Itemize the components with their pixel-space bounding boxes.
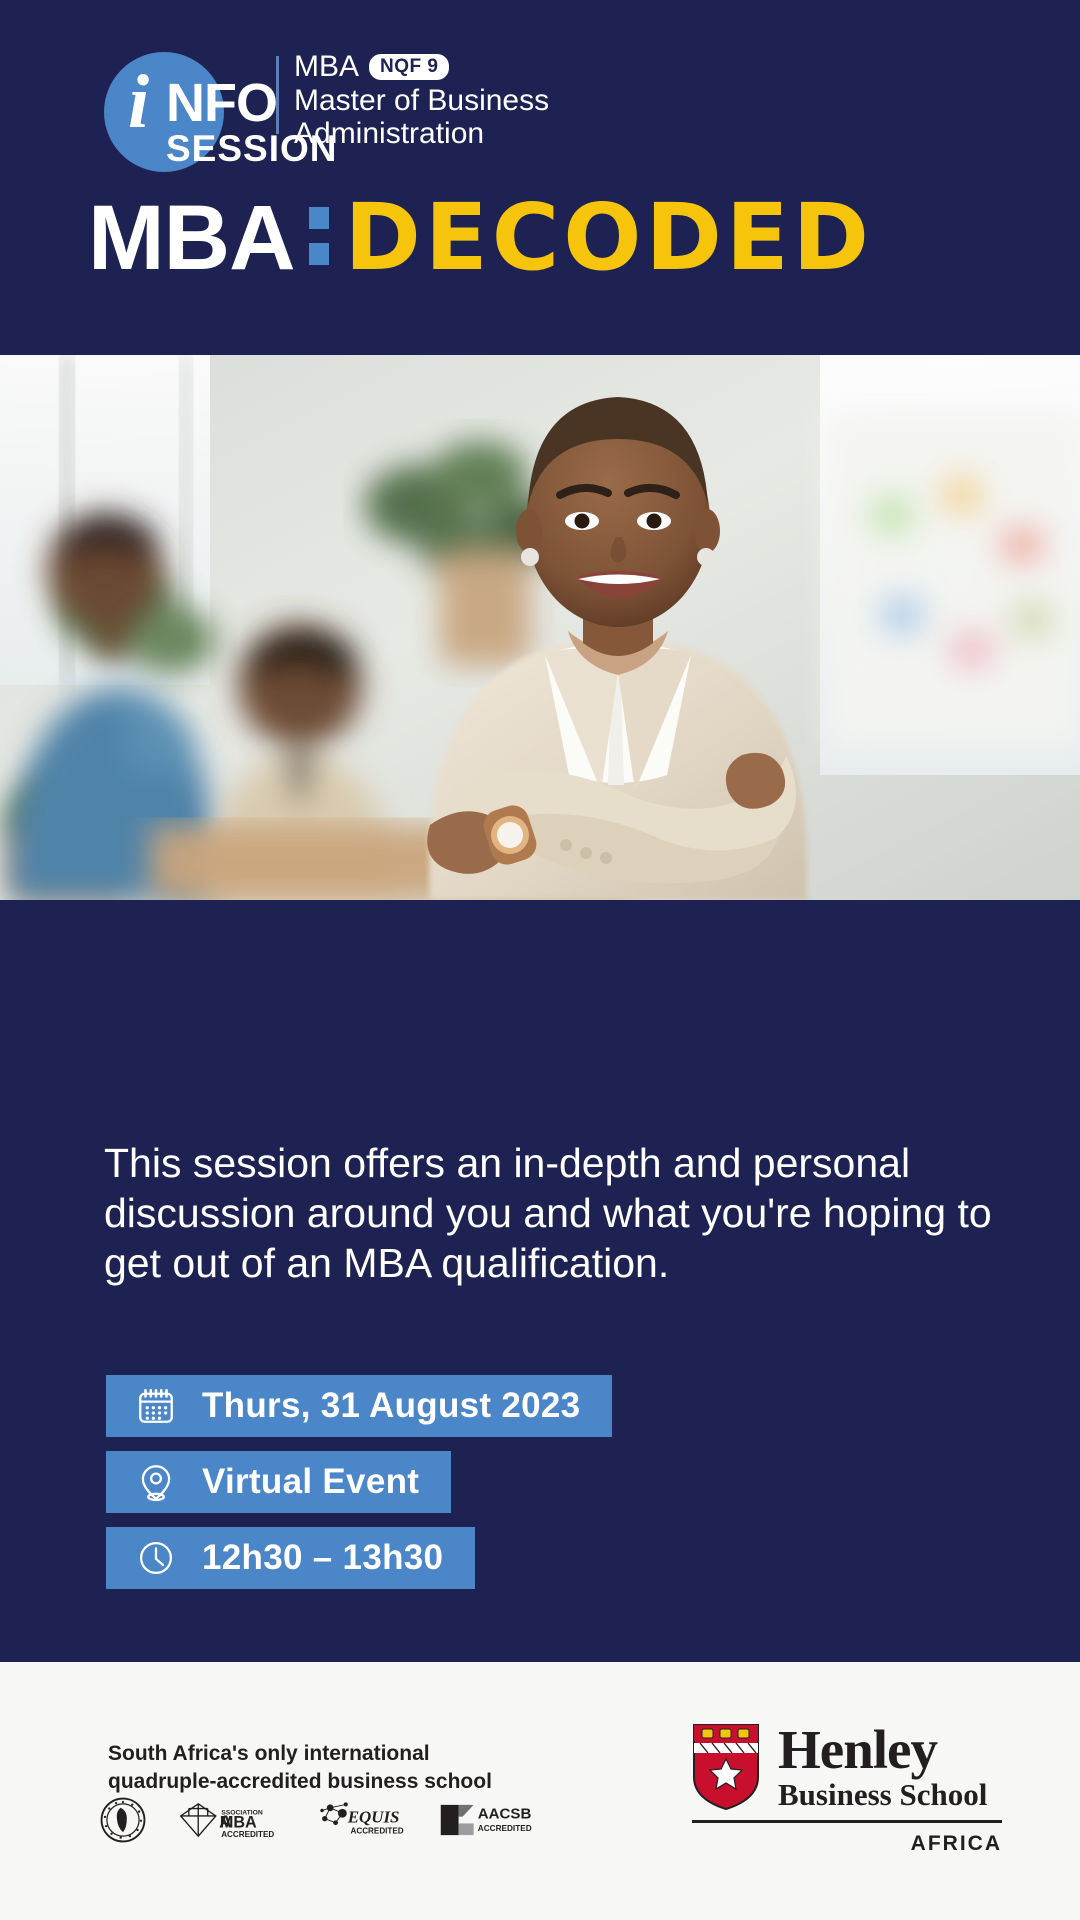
- amba-accredited-icon: SSOCIATION MBA A ACCREDITED: [178, 1797, 286, 1843]
- location-pin-icon: [134, 1460, 178, 1504]
- logo-divider: [276, 56, 279, 134]
- title-part-decoded: DECODED: [345, 192, 874, 284]
- detail-label-location: Virtual Event: [202, 1462, 419, 1502]
- qualification-abbrev-row: MBA NQF 9: [294, 50, 549, 84]
- accreditation-logos: SSOCIATION MBA A ACCREDITED EQUIS ACCRED…: [100, 1797, 534, 1843]
- qualification-name-line2: Administration: [294, 117, 549, 151]
- aacsb-accredited-icon: AACSB ACCREDITED: [438, 1797, 534, 1843]
- qualification-block: MBA NQF 9 Master of Business Administrat…: [294, 50, 549, 151]
- poster: i NFO SESSION MBA NQF 9 Master of Busine…: [0, 0, 1080, 1920]
- hero-photo: [0, 355, 1080, 900]
- aabs-accredited-icon: [100, 1797, 146, 1843]
- accreditation-claim-line2: quadruple-accredited business school: [108, 1768, 492, 1796]
- title-part-mba: MBA: [88, 192, 295, 284]
- brand-subtitle: Business School: [778, 1777, 987, 1813]
- detail-chip-location[interactable]: Virtual Event: [106, 1451, 451, 1513]
- henley-crest-icon: [692, 1723, 760, 1811]
- clock-icon: [134, 1536, 178, 1580]
- svg-text:ACCREDITED: ACCREDITED: [350, 1827, 403, 1836]
- qualification-name-line1: Master of Business: [294, 84, 549, 118]
- svg-text:A: A: [219, 1811, 232, 1831]
- svg-text:EQUIS: EQUIS: [347, 1808, 400, 1827]
- detail-label-date: Thurs, 31 August 2023: [202, 1386, 580, 1426]
- detail-label-time: 12h30 – 13h30: [202, 1538, 443, 1578]
- accreditation-claim-line1: South Africa's only international: [108, 1740, 492, 1768]
- detail-chip-time[interactable]: 12h30 – 13h30: [106, 1527, 475, 1589]
- accreditation-claim: South Africa's only international quadru…: [108, 1740, 492, 1796]
- page-title: MBA DECODED: [88, 192, 873, 284]
- nqf-badge: NQF 9: [369, 54, 449, 80]
- detail-chip-date[interactable]: Thurs, 31 August 2023: [106, 1375, 612, 1437]
- brand-region: AFRICA: [692, 1832, 1002, 1856]
- svg-text:ACCREDITED: ACCREDITED: [221, 1830, 274, 1839]
- svg-text:AACSB: AACSB: [478, 1806, 532, 1823]
- henley-business-school-logo: Henley Business School AFRICA: [692, 1722, 1022, 1856]
- brand-name: Henley: [778, 1722, 987, 1777]
- title-colon-icon: [309, 207, 329, 265]
- logo-word-info: NFO: [166, 76, 277, 130]
- logo-letter-i: i: [128, 64, 149, 140]
- qualification-abbrev: MBA: [294, 50, 359, 84]
- event-details: Thurs, 31 August 2023 Virtual Event 12h3…: [106, 1375, 612, 1603]
- equis-accredited-icon: EQUIS ACCREDITED: [318, 1797, 406, 1843]
- session-description: This session offers an in-depth and pers…: [104, 1138, 1004, 1288]
- calendar-icon: [134, 1384, 178, 1428]
- svg-text:ACCREDITED: ACCREDITED: [478, 1824, 532, 1833]
- brand-rule: [692, 1820, 1002, 1823]
